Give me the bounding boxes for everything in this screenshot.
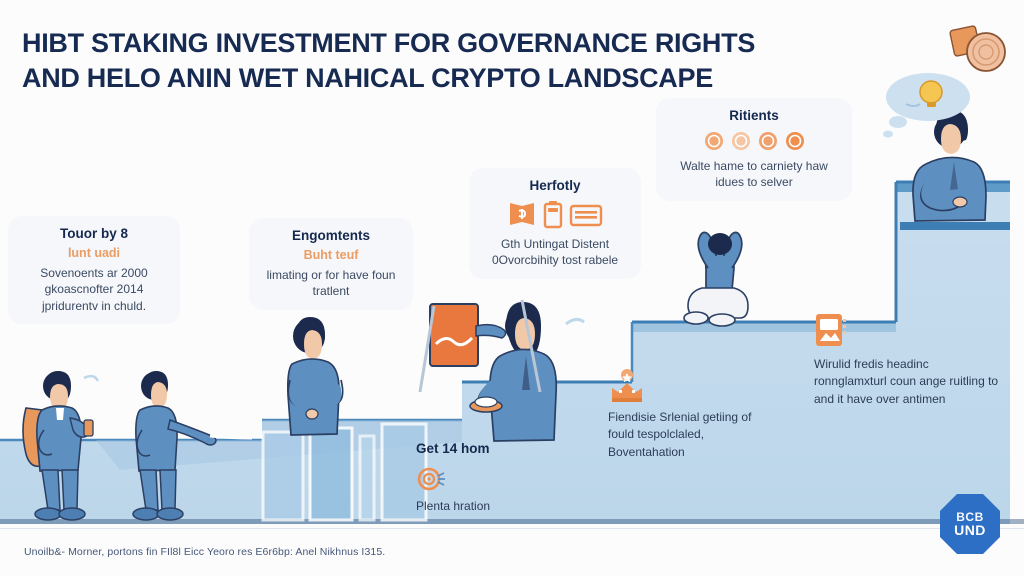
logo-text: BCB UND [938,492,1002,556]
crown-people-icon [608,368,646,404]
onchart-body: Fiendisie Srlenial getiing of fould tesp… [608,409,763,461]
coin-icon [703,130,725,152]
callout-card-third: Herfotly Gth Untingat Distent 0Ovorcbihi… [469,168,641,279]
coin-medal-icon [950,26,1005,71]
callout-icon-row [668,130,840,152]
card-list-icon [569,200,603,230]
callout-card-left: Touor by 8 lunt uadi Sovenoents ar 2000 … [8,216,180,324]
callout-body: Sovenoents ar 2000 gkoascnofter 2014 jpr… [20,265,168,315]
onchart-center: Get 14 hom Plenta hration [416,440,596,515]
ground-line [0,519,1024,524]
footer-divider [0,528,1024,529]
bar-2 [310,428,352,520]
footer-caption: Unoilb&- Morner, portons fin FIl8l Eicc … [24,546,385,558]
battery-icon [542,200,564,230]
onchart-right: Wirulid fredis headinc ronnglamxturl cou… [814,312,1000,408]
onchart-body: Plenta hration [416,498,596,515]
coin-icon [730,130,752,152]
bar-1 [263,432,303,520]
bar-chart-group [263,424,426,520]
brand-logo[interactable]: BCB UND [938,492,1002,556]
figure-person-celebrating [684,232,748,326]
target-icon [416,464,446,494]
callout-heading: Herfotly [481,178,629,195]
callout-body: limating or for have foun tratlent [261,267,401,300]
callout-subheading: Buht teuf [261,248,401,264]
coin-icon [757,130,779,152]
callout-icon-row [481,200,629,230]
page-title: HIBT STAKING INVESTMENT FOR GOVERNANCE R… [22,26,782,96]
onchart-body: Wirulid fredis headinc ronnglamxturl cou… [814,356,1000,408]
infographic-canvas: HIBT STAKING INVESTMENT FOR GOVERNANCE R… [0,0,1024,576]
money-book-icon [507,200,537,230]
callout-heading: Ritients [668,108,840,125]
onchart-heading: Get 14 hom [416,440,596,458]
logo-line-1: BCB [956,511,984,523]
callout-body: Walte hame to carniety haw idues to selv… [668,158,840,191]
logo-line-2: UND [954,523,986,537]
onchart-mid-right: Fiendisie Srlenial getiing of fould tesp… [608,368,763,461]
callout-card-top-right: Ritients Walte hame to carniety haw idue… [656,98,852,201]
callout-heading: Touor by 8 [20,226,168,243]
callout-subheading: lunt uadi [20,246,168,262]
callout-card-second: Engomtents Buht teuf limating or for hav… [249,218,413,310]
image-frame-icon [814,312,848,350]
figure-person-arms-crossed [288,317,343,435]
callout-body: Gth Untingat Distent 0Ovorcbihity tost r… [481,236,629,269]
callout-heading: Engomtents [261,228,401,245]
coin-icon [784,130,806,152]
bar-3 [360,436,374,520]
